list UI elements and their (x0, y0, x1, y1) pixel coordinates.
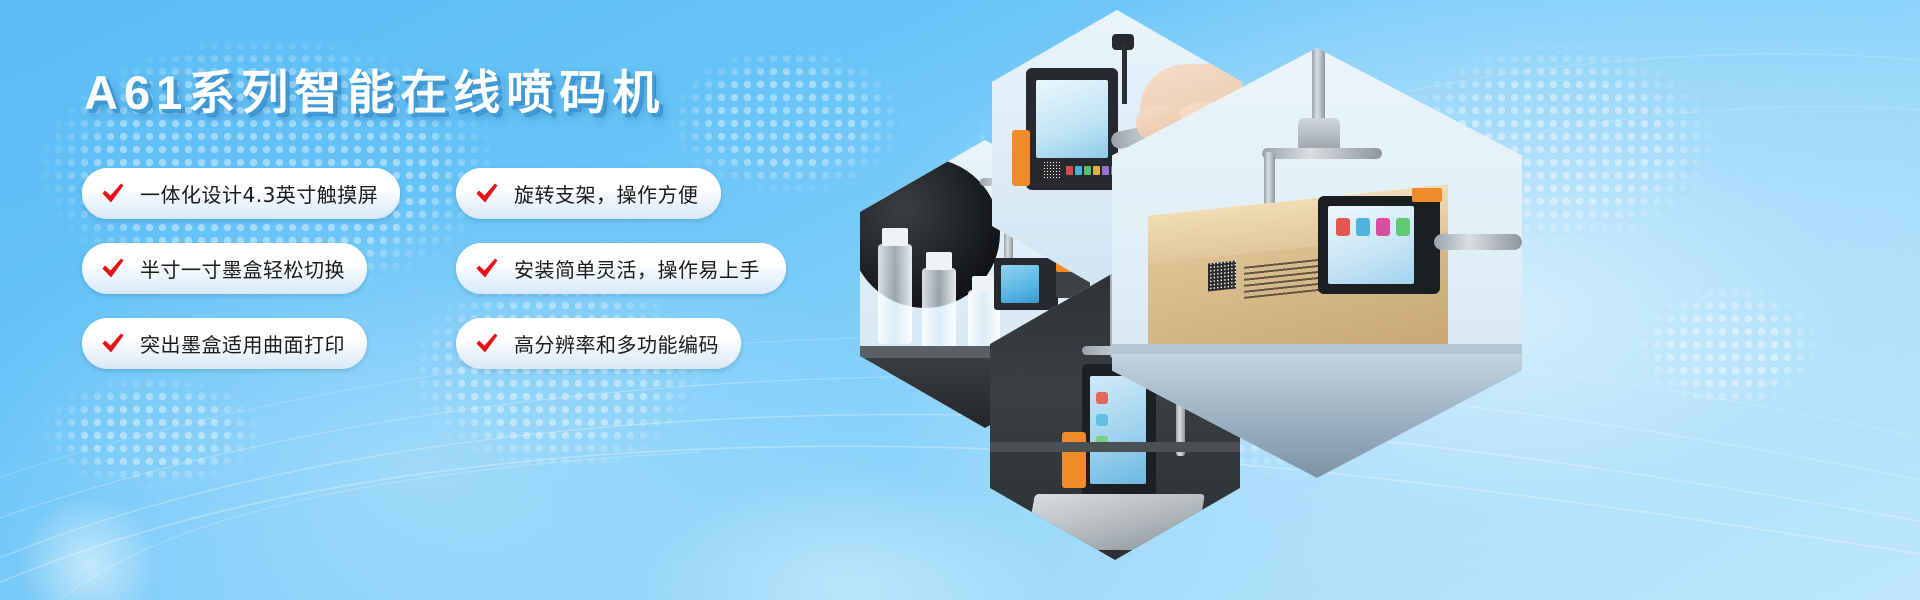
feature-item-label: 高分辨率和多功能编码 (514, 329, 719, 358)
feature-item-label: 旋转支架，操作方便 (514, 179, 699, 208)
product-photo-cluster (840, 0, 1920, 600)
product-banner: A61系列智能在线喷码机 一体化设计4.3英寸触摸屏 旋转支架，操作方便 半寸一… (0, 0, 1920, 600)
feature-item-label: 安装简单灵活，操作易上手 (514, 254, 760, 283)
check-icon (474, 181, 500, 207)
check-icon (474, 331, 500, 357)
check-icon (474, 256, 500, 282)
feature-item-3[interactable]: 半寸一寸墨盒轻松切换 (82, 243, 367, 294)
feature-item-1[interactable]: 一体化设计4.3英寸触摸屏 (82, 168, 400, 219)
feature-item-label: 一体化设计4.3英寸触摸屏 (140, 179, 378, 208)
feature-list: 一体化设计4.3英寸触摸屏 旋转支架，操作方便 半寸一寸墨盒轻松切换 安装简单灵… (82, 168, 822, 369)
feature-item-2[interactable]: 旋转支架，操作方便 (456, 168, 721, 219)
feature-item-label: 半寸一寸墨盒轻松切换 (140, 254, 345, 283)
check-icon (100, 181, 126, 207)
feature-item-4[interactable]: 安装简单灵活，操作易上手 (456, 243, 786, 294)
page-title: A61系列智能在线喷码机 (84, 54, 665, 123)
feature-item-6[interactable]: 高分辨率和多功能编码 (456, 318, 741, 369)
feature-item-5[interactable]: 突出墨盒适用曲面打印 (82, 318, 367, 369)
check-icon (100, 331, 126, 357)
feature-item-label: 突出墨盒适用曲面打印 (140, 329, 345, 358)
check-icon (100, 256, 126, 282)
